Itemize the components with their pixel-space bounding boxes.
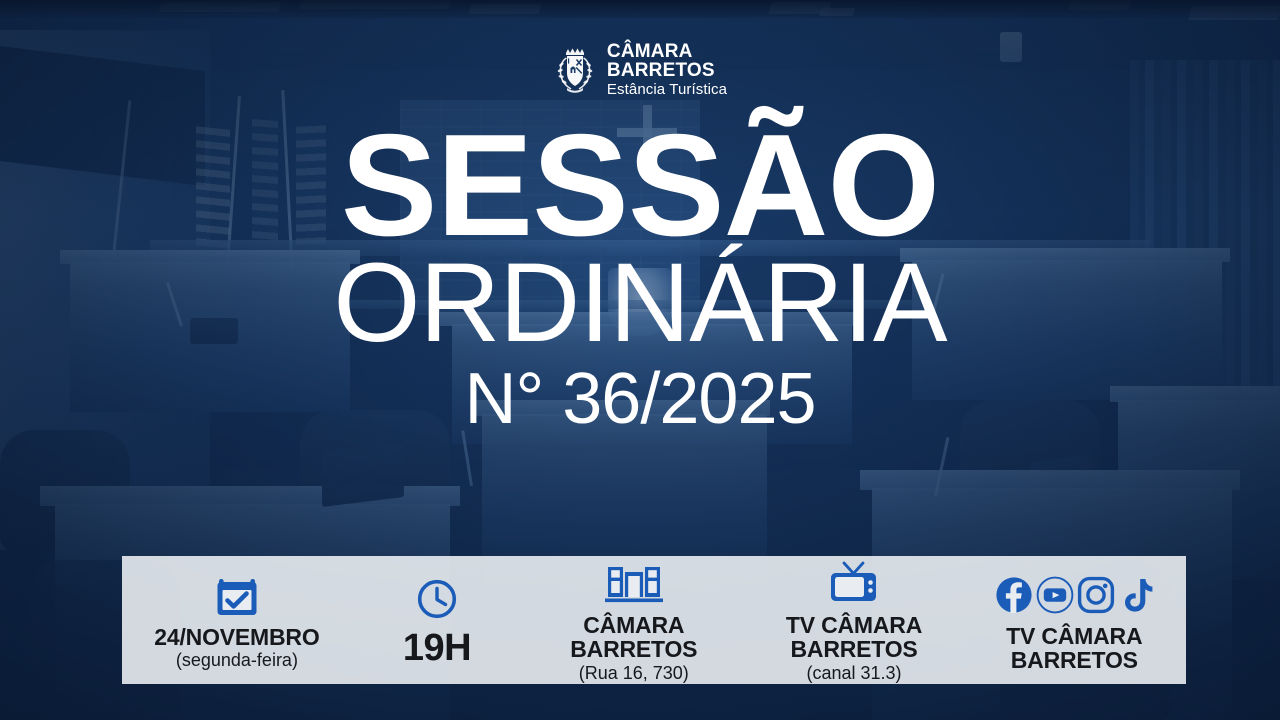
info-cell-place: CÂMARA BARRETOS (Rua 16, 730) [522,556,745,684]
social-main-line-2: BARRETOS [1011,648,1138,672]
brand-text: CÂMARA BARRETOS Estância Turística [607,42,727,97]
time-main: 19H [403,628,471,668]
building-icon [605,562,663,606]
television-icon [825,561,883,607]
tv-main-line-1: TV CÂMARA [786,613,922,637]
building-icon-wrap [605,561,663,607]
place-main-line-2: BARRETOS [570,637,697,661]
calendar-check-icon-wrap [215,573,259,619]
tv-main-line-2: BARRETOS [791,637,918,661]
brand-logo: CÂMARA BARRETOS Estância Turística [0,42,1280,97]
date-main: 24/NOVEMBRO [154,625,319,649]
facebook-icon[interactable] [995,576,1033,614]
calendar-check-icon [215,574,259,618]
television-icon-wrap [825,561,883,607]
place-main-line-1: CÂMARA [583,613,684,637]
info-cell-time: 19H [352,556,522,684]
brand-line-2: BARRETOS [607,61,727,80]
info-cell-social: TV CÂMARA BARRETOS [963,556,1186,684]
session-announcement-banner: CÂMARA BARRETOS Estância Turística SESSÃ… [0,0,1280,720]
headline-block: SESSÃO ORDINÁRIA N° 36/2025 [0,118,1280,435]
brand-line-3: Estância Turística [607,82,727,97]
date-sub: (segunda-feira) [176,650,298,671]
clock-icon [416,578,458,620]
top-shadow-band [0,0,1280,18]
tv-sub: (canal 31.3) [807,663,902,684]
social-icons-row [995,572,1154,618]
headline-ordinaria: ORDINÁRIA [0,247,1280,359]
place-sub: (Rua 16, 730) [579,663,689,684]
headline-numero: N° 36/2025 [0,363,1280,435]
clock-icon-wrap [416,576,458,622]
info-bar: 24/NOVEMBRO (segunda-feira) 19H [122,556,1186,684]
youtube-icon[interactable] [1036,576,1074,614]
headline-sessao: SESSÃO [0,118,1280,253]
social-main-line-1: TV CÂMARA [1006,624,1142,648]
barretos-coat-of-arms-icon [553,46,597,94]
info-cell-tv: TV CÂMARA BARRETOS (canal 31.3) [746,556,963,684]
tiktok-icon[interactable] [1118,576,1154,614]
brand-line-1: CÂMARA [607,42,727,61]
instagram-icon[interactable] [1077,576,1115,614]
info-cell-date: 24/NOVEMBRO (segunda-feira) [122,556,352,684]
